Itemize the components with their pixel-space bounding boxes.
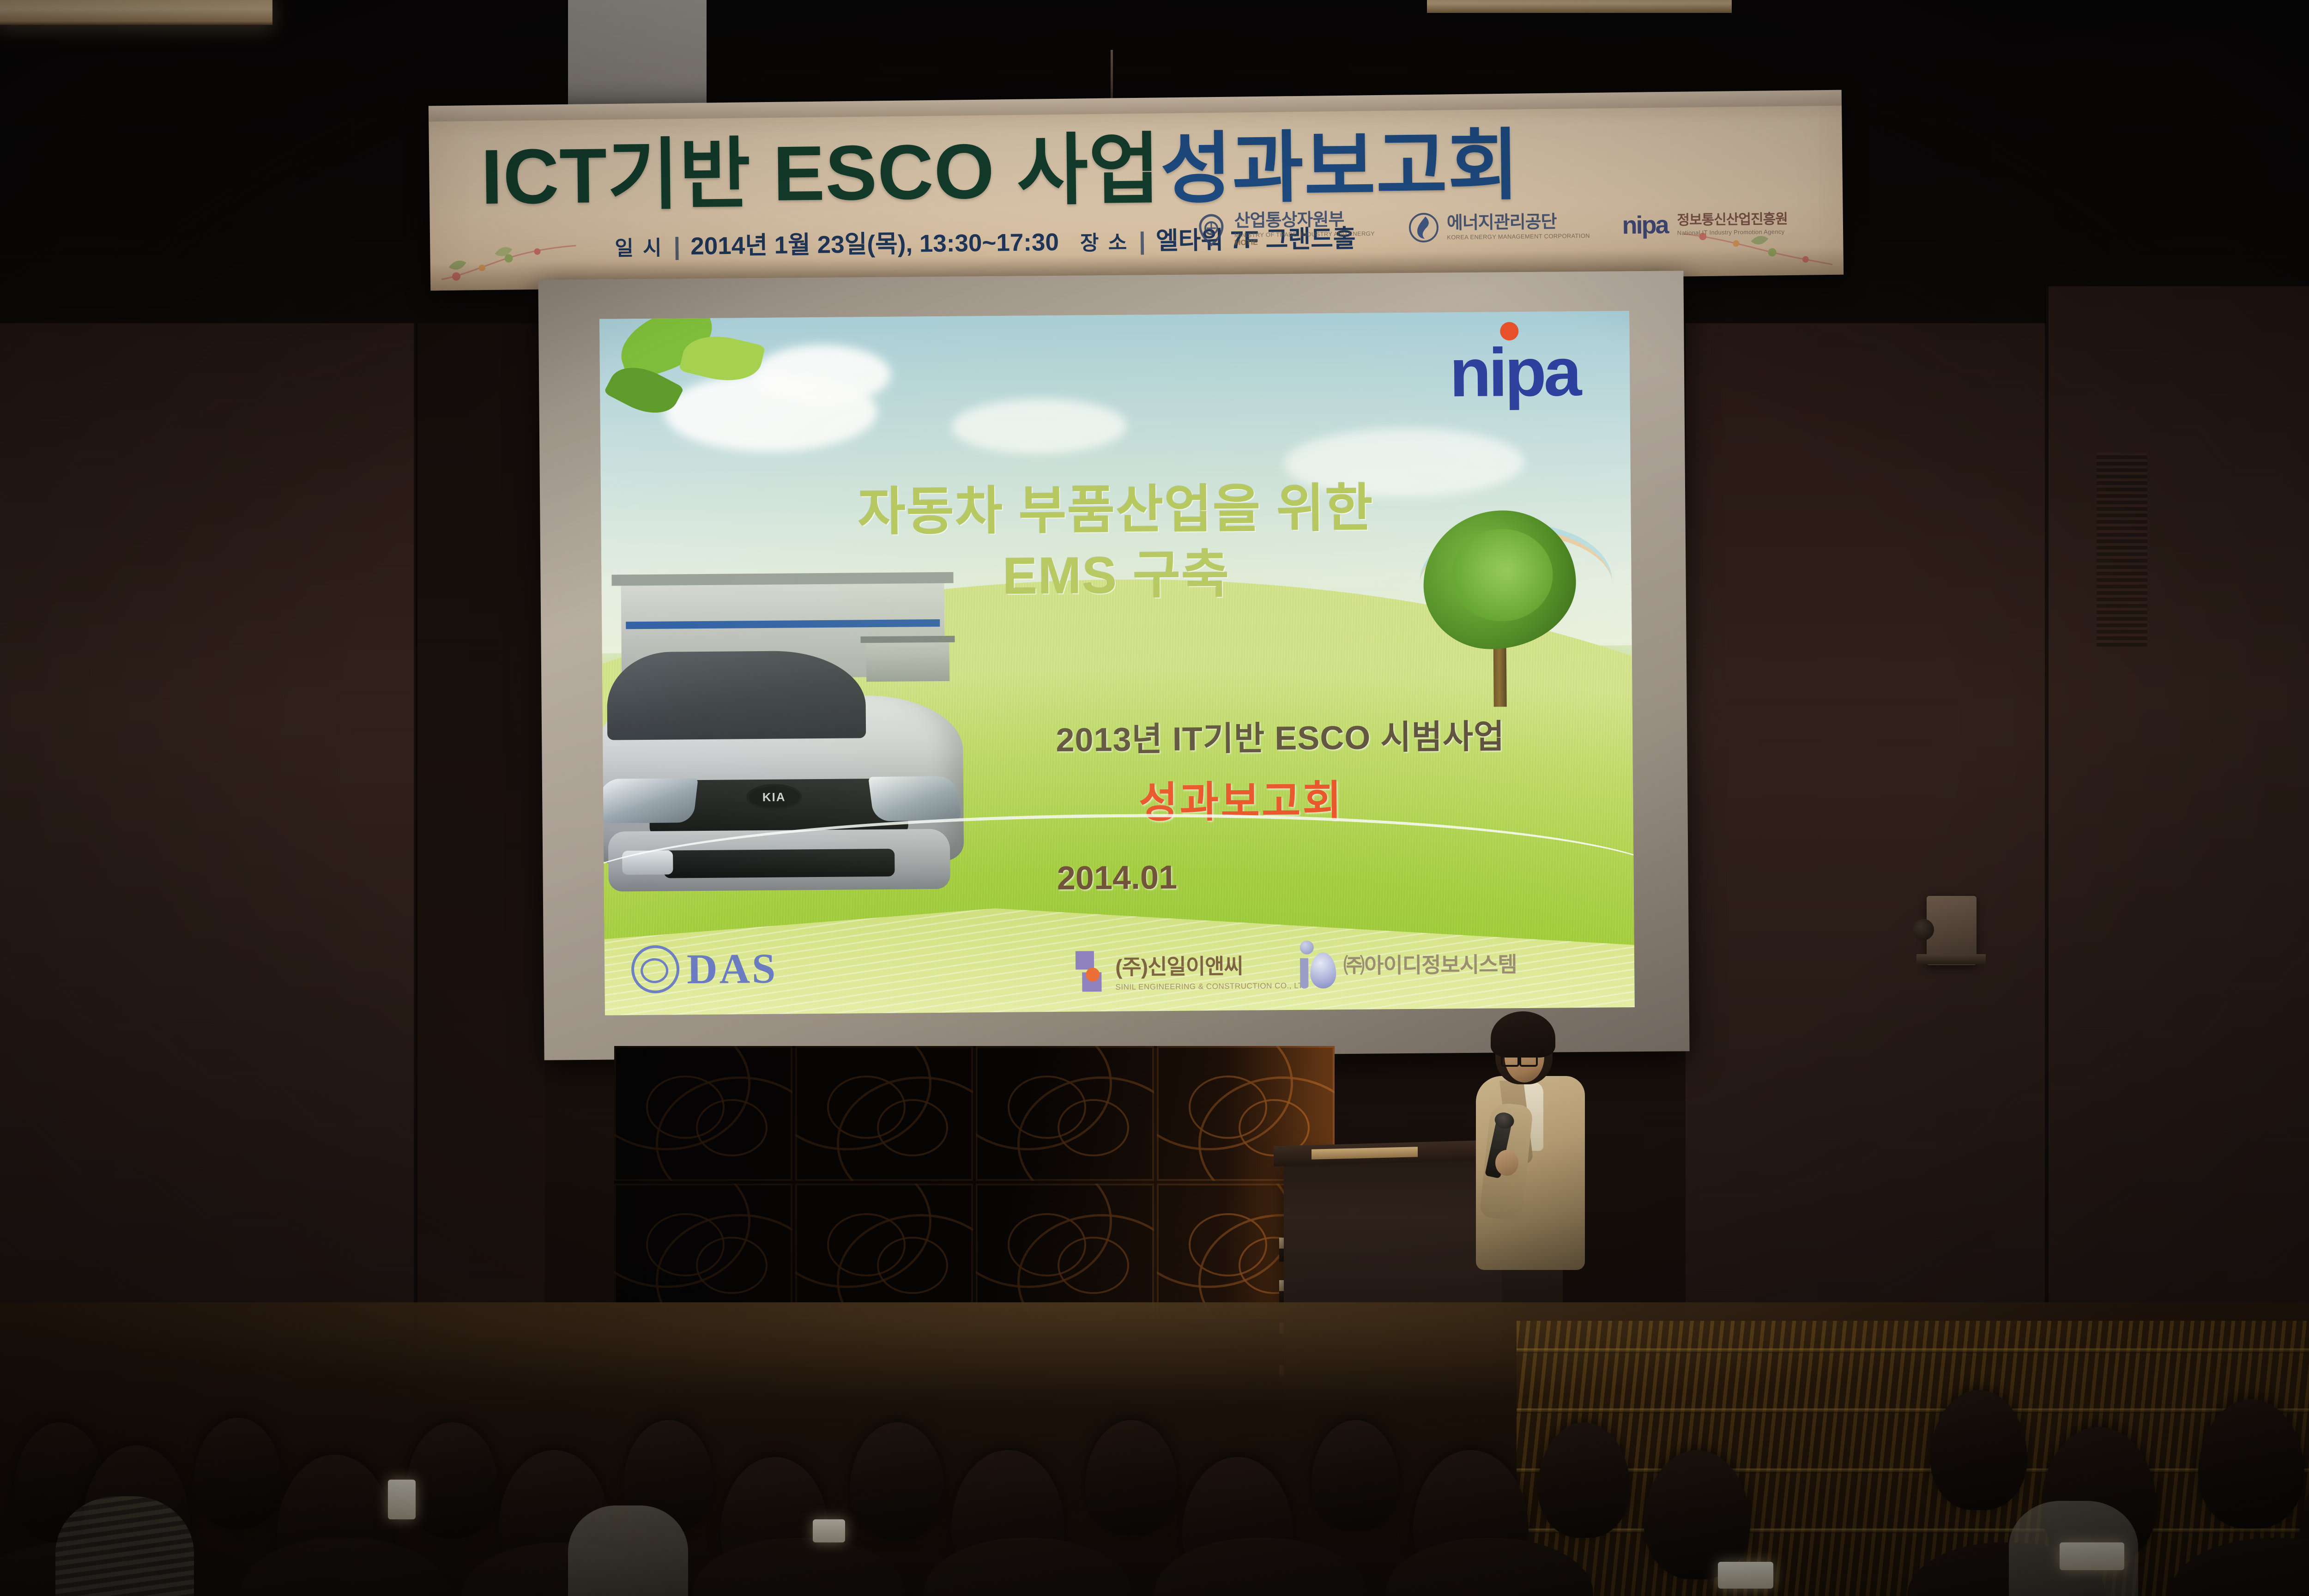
projector-lens-icon: [1913, 919, 1934, 940]
ceiling-light-soffit-left: [0, 0, 272, 25]
sinil-logo-icon: [1076, 951, 1108, 992]
speaker-hand: [1495, 1150, 1518, 1176]
partner-id-info: ㈜아이디정보시스템: [1297, 939, 1517, 989]
partner-das: DAS: [631, 944, 778, 994]
banner-date-separator: |: [671, 232, 683, 260]
audience-area: [0, 1302, 2309, 1596]
attendee-paper: [813, 1519, 845, 1542]
attendee-paper: [2060, 1542, 2124, 1570]
audience-light-garment: [568, 1505, 688, 1596]
partner-das-name: DAS: [687, 944, 778, 994]
banner-title-part-1: ICT기반 ESCO 사업: [480, 106, 1161, 226]
audience-striped-garment: [55, 1496, 194, 1596]
slide-subtitle: 2013년 IT기반 ESCO 시범사업: [1056, 708, 1633, 761]
wall-seam-left: [414, 323, 417, 1339]
kemco-flame-icon: [1407, 211, 1441, 244]
banner-hanging-rope: [1111, 50, 1113, 102]
lattice-shading: [614, 1046, 1335, 1318]
sponsor-kemco-name-en: KOREA ENERGY MANAGEMENT CORPORATION: [1447, 232, 1590, 240]
attendee-paper: [1718, 1562, 1773, 1589]
wall-column-right-inner: [1686, 323, 2046, 1367]
speaker-hair: [1491, 1011, 1555, 1058]
das-logo-icon: [631, 945, 680, 993]
conference-hall-photo: ICT기반 ESCO 사업 성과보고회 일 시 | 2014년 1월 23일(목…: [0, 0, 2309, 1596]
banner-date-label: 일 시: [615, 231, 664, 261]
event-banner: ICT기반 ESCO 사업 성과보고회 일 시 | 2014년 1월 23일(목…: [429, 90, 1844, 291]
banner-title-part-2: 성과보고회: [1160, 102, 1520, 218]
glasses-icon: [1501, 1051, 1538, 1063]
slide-headline: 자동차 부품산업을 위한 EMS 구축: [601, 473, 1632, 612]
projection-screen: KIA nipa 자동차 부품산업을 위한 EMS 구축 2013년 IT기반 …: [538, 271, 1689, 1060]
partner-sinil-name-en: SINIL ENGINEERING & CONSTRUCTION CO., LT…: [1115, 981, 1309, 992]
sponsor-motie-name-en: MINISTRY OF TRADE, INDUSTRY AND ENERGY: [1234, 230, 1375, 238]
id-info-system-logo-icon: [1297, 940, 1336, 989]
wall-seam-right: [2045, 286, 2049, 1367]
partner-id-info-name: ㈜아이디정보시스템: [1343, 948, 1517, 979]
slide-partner-logos: DAS (주)신일이앤씨 SINIL ENGINEERING & CONSTRU…: [604, 927, 1635, 1004]
projector-mount-arm: [1916, 954, 1986, 964]
banner-date-value: 2014년 1월 23일(목), 13:30~17:30: [690, 223, 1059, 262]
presentation-slide: KIA nipa 자동차 부품산업을 위한 EMS 구축 2013년 IT기반 …: [599, 311, 1635, 1015]
nipa-logo: nipa: [1449, 338, 1579, 407]
banner-place-separator: |: [1136, 227, 1149, 255]
banner-title: ICT기반 ESCO 사업 성과보고회: [480, 107, 1783, 218]
stage-lattice-backdrop: [614, 1046, 1335, 1318]
sponsor-motie: 산업통상자원부 MINISTRY OF TRADE, INDUSTRY AND …: [1194, 211, 1375, 247]
wall-column-left-inner: [416, 323, 545, 1339]
carpeted-steps: [1517, 1321, 2309, 1596]
wall-column-right: [2046, 286, 2309, 1367]
partner-sinil: (주)신일이앤씨 SINIL ENGINEERING & CONSTRUCTIO…: [1076, 949, 1309, 992]
partner-sinil-name: (주)신일이앤씨: [1115, 949, 1309, 981]
sponsor-kemco: 에너지관리공단 KOREA ENERGY MANAGEMENT CORPORAT…: [1407, 209, 1590, 244]
attendee-phone-screen: [388, 1480, 416, 1519]
sponsor-kemco-name-kr: 에너지관리공단: [1447, 212, 1590, 232]
motie-emblem-icon: [1194, 213, 1228, 247]
sponsor-motie-name-kr: 산업통상자원부: [1234, 211, 1375, 230]
wall-grille-decor: [2097, 453, 2147, 647]
banner-place-label: 장 소: [1080, 226, 1129, 256]
ceiling-light-soffit-right: [1427, 0, 1732, 13]
nipa-wordmark-icon: nipa: [1622, 212, 1668, 237]
wall-column-left: [0, 323, 416, 1339]
